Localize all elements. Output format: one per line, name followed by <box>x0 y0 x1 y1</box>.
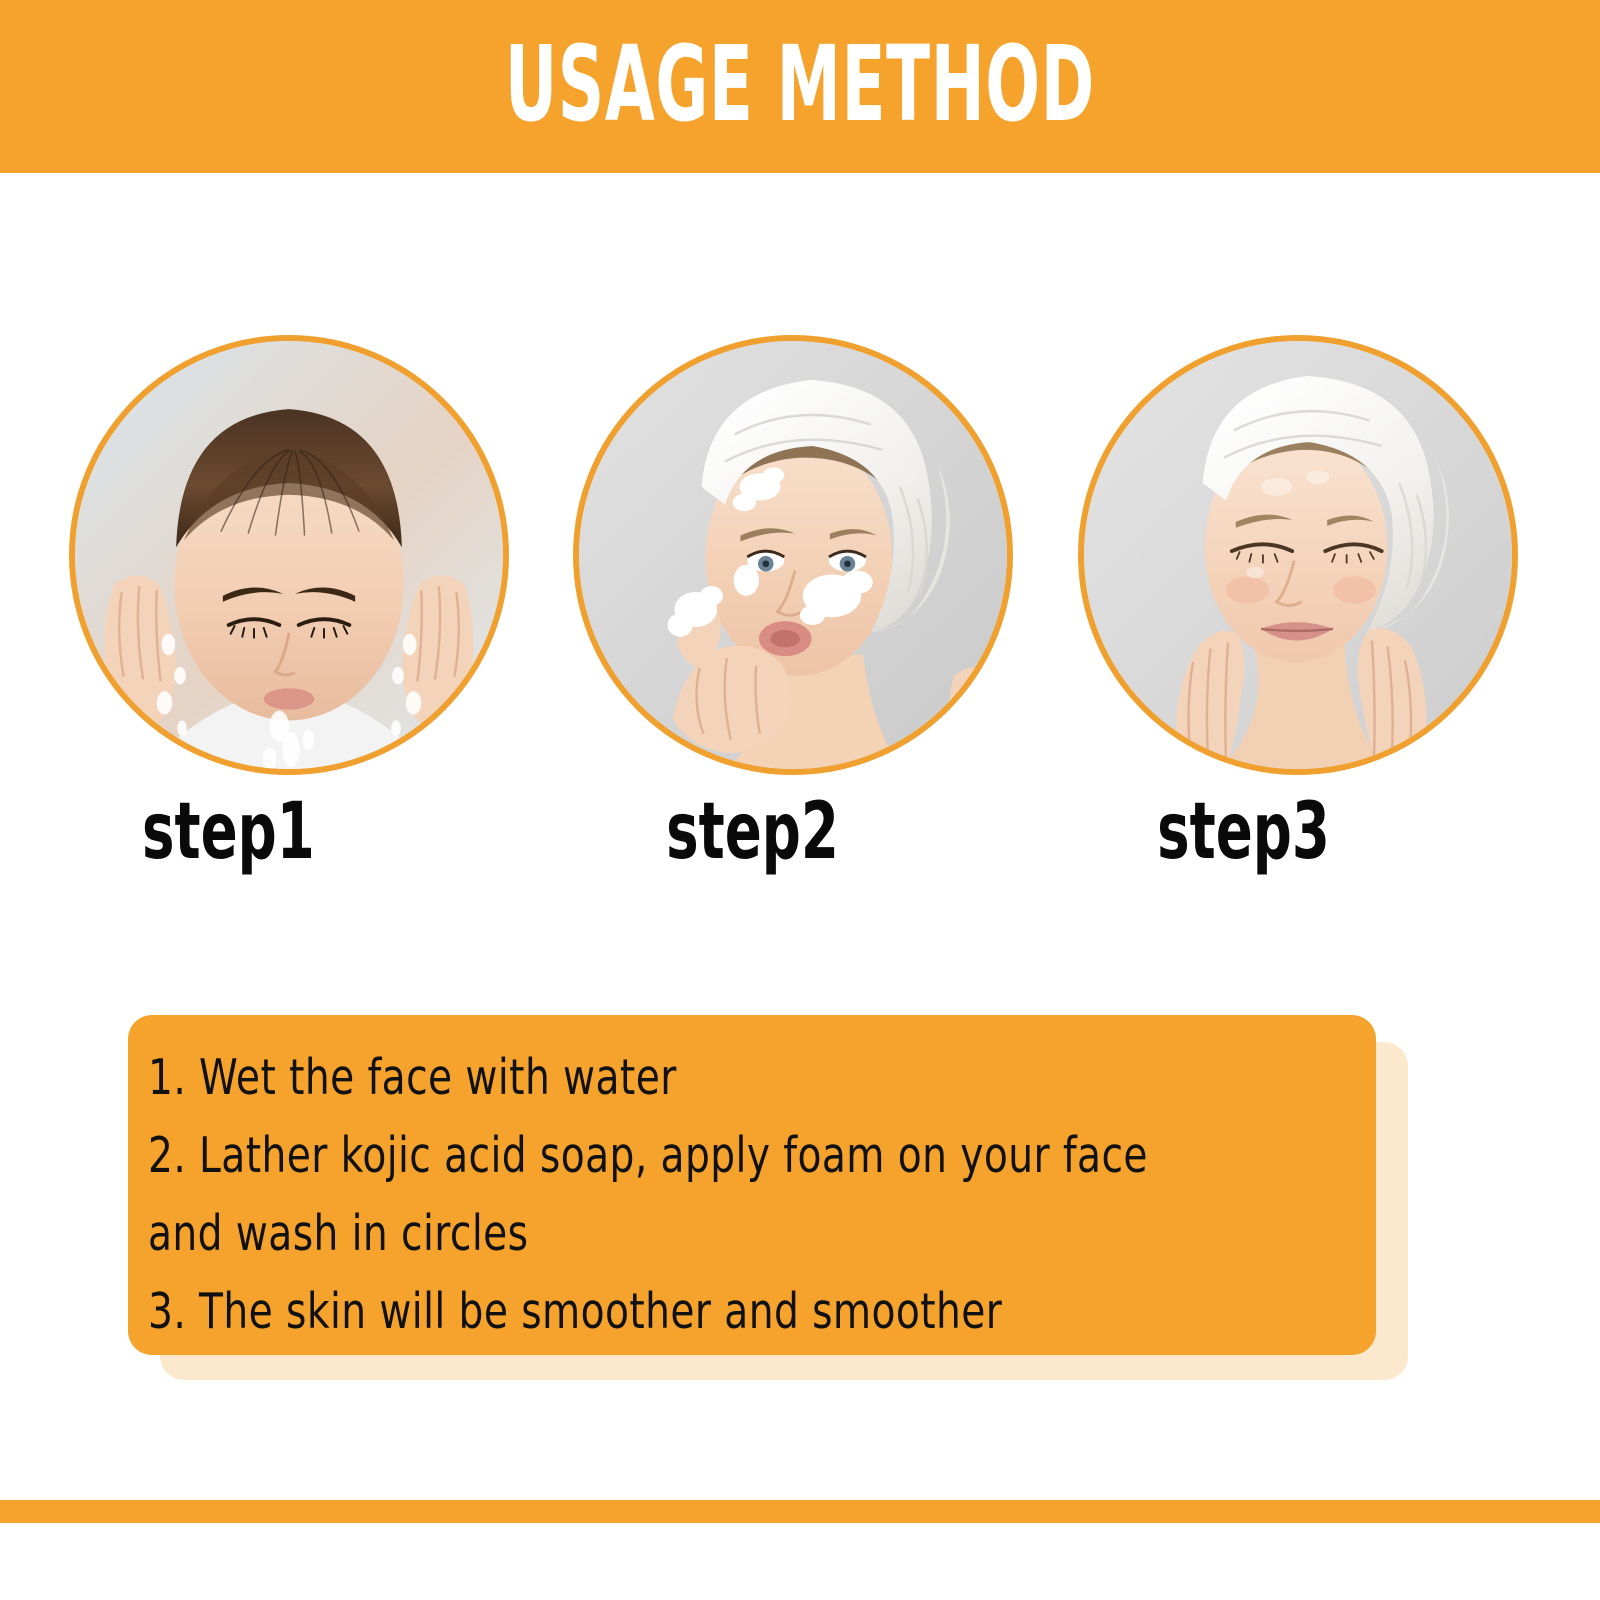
step-item-2: step2 <box>573 335 1021 875</box>
step-3-label: step3 <box>1078 793 1392 871</box>
step-3-photo <box>1078 335 1518 775</box>
footer-band <box>0 1500 1600 1523</box>
instruction-line-1: 1. Wet the face with water <box>148 1039 1114 1117</box>
instructions-card: 1. Wet the face with water 2. Lather koj… <box>128 1015 1376 1355</box>
step-1-label: step1 <box>65 793 379 871</box>
page-title: USAGE METHOD <box>505 32 1095 136</box>
instruction-line-3: and wash in circles <box>148 1195 1114 1273</box>
woman-massaging-face-illustration <box>1084 341 1512 769</box>
step-1-photo <box>69 335 509 775</box>
instruction-line-4: 3. The skin will be smoother and smoothe… <box>148 1273 1114 1351</box>
infographic-page: USAGE METHOD <box>0 0 1600 1600</box>
step-2-photo <box>573 335 1013 775</box>
step-item-3: step3 <box>1078 335 1526 875</box>
woman-washing-face-illustration <box>75 341 503 769</box>
instruction-line-2: 2. Lather kojic acid soap, apply foam on… <box>148 1117 1114 1195</box>
steps-row: step1 <box>0 335 1600 875</box>
woman-applying-foam-illustration <box>579 341 1007 769</box>
step-item-1: step1 <box>65 335 513 875</box>
step-2-label: step2 <box>573 793 887 871</box>
header-band: USAGE METHOD <box>0 0 1600 173</box>
